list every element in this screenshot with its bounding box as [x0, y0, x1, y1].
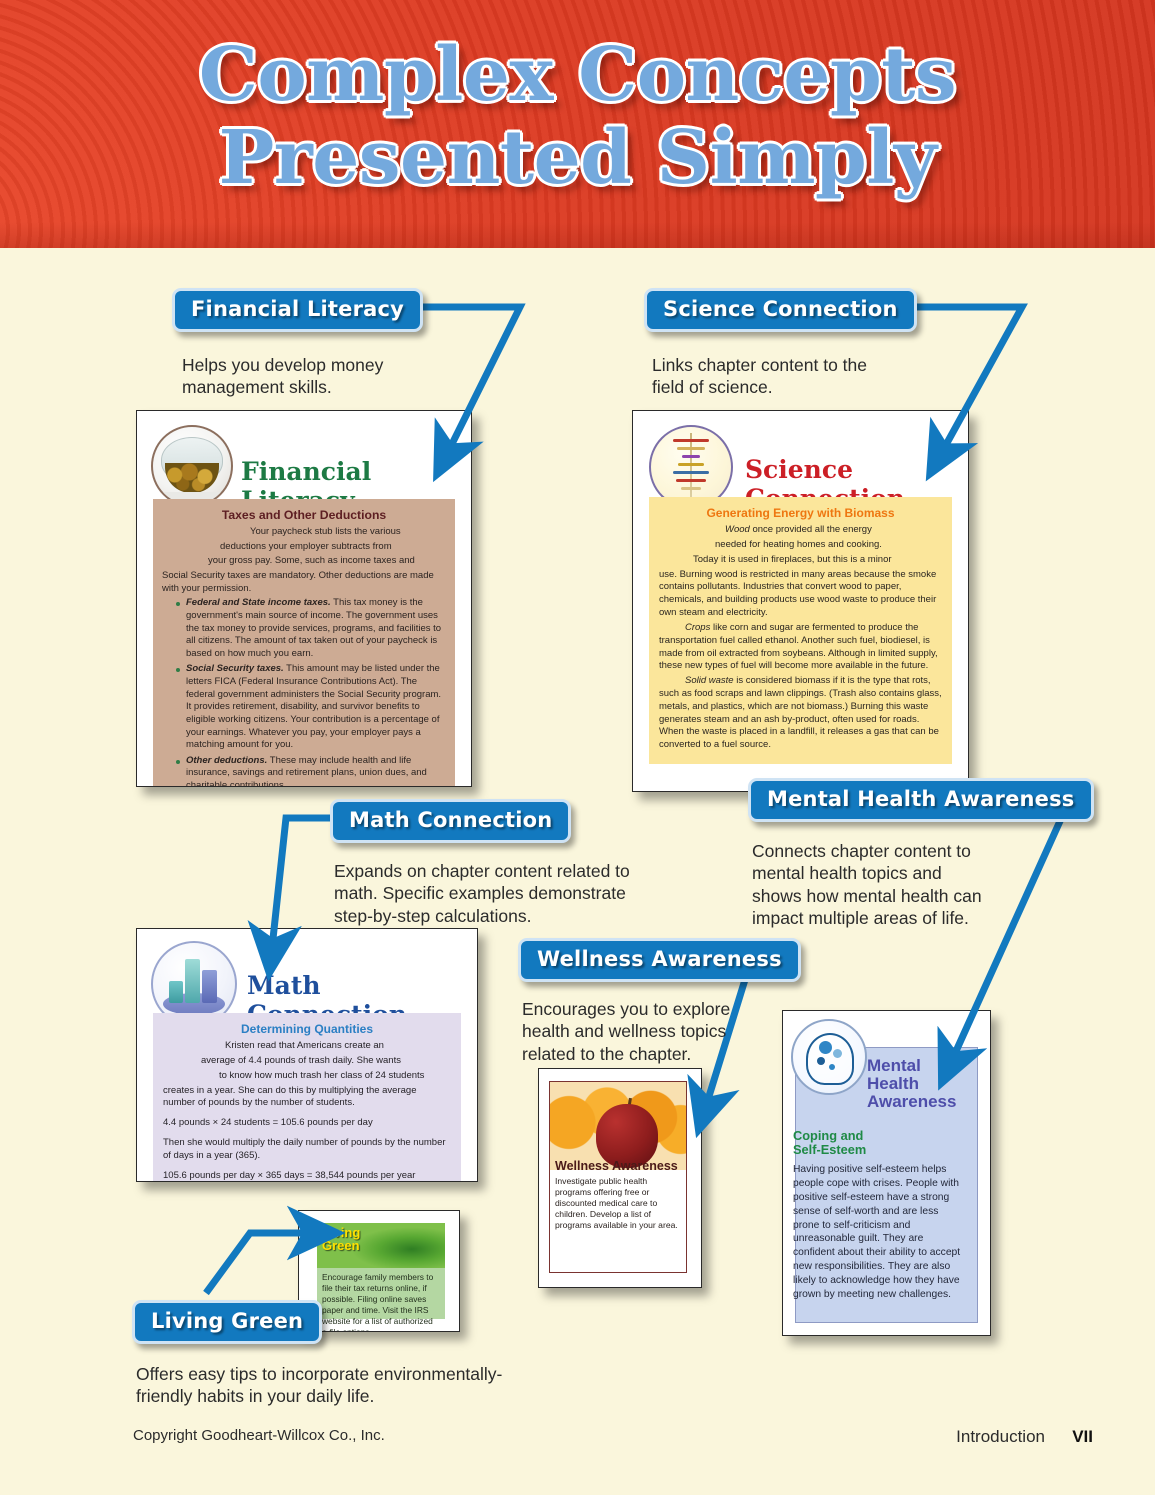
bullet-list: Federal and State income taxes. This tax… [162, 597, 446, 787]
paragraph-line: Social Security taxes are mandatory. Oth… [162, 570, 446, 595]
wellness-text-block: Wellness Awareness Investigate public he… [555, 1160, 681, 1231]
bullet-term: Other deductions. [186, 755, 267, 766]
desc-mental-health-awareness: Connects chapter content to mental healt… [752, 840, 982, 930]
desc-living-green: Offers easy tips to incorporate environm… [136, 1363, 516, 1408]
paragraph-text: once provided all the energy [752, 524, 871, 535]
list-item: Other deductions. These may include heal… [176, 755, 446, 787]
green-plant-photo: LivingGreen [317, 1223, 445, 1268]
callout-science-connection[interactable]: Science Connection [644, 288, 917, 332]
body-text: Investigate public health programs offer… [555, 1176, 678, 1231]
head-with-gears-icon [791, 1019, 867, 1095]
paragraph-line: Then she would multiply the daily number… [163, 1137, 451, 1163]
page-content: Financial Literacy Helps you develop mon… [0, 248, 1155, 1495]
card-heading: Generating Energy with Biomass [659, 505, 942, 521]
paragraph-line: average of 4.4 pounds of trash daily. Sh… [163, 1055, 451, 1068]
desc-financial-literacy: Helps you develop money management skill… [182, 354, 432, 399]
piggy-bank-icon [151, 425, 233, 507]
callout-financial-literacy[interactable]: Financial Literacy [172, 288, 423, 332]
body-text: Having positive self-esteem helps people… [793, 1163, 961, 1302]
card-heading: Taxes and Other Deductions [162, 507, 446, 523]
paragraph-line: use. Burning wood is restricted in many … [659, 569, 942, 620]
page-footer: Copyright Goodheart-Willcox Co., Inc. In… [0, 1427, 1155, 1453]
paragraph-line: needed for heating homes and cooking. [659, 539, 942, 552]
card-heading: Wellness Awareness [555, 1160, 681, 1174]
emphasis-word: Wood [725, 524, 750, 535]
paragraph-line: creates in a year. She can do this by mu… [163, 1085, 451, 1111]
bullet-text: This amount may be listed under the lett… [186, 663, 441, 750]
card-body: Generating Energy with Biomass Wood once… [649, 497, 952, 764]
card-heading: Determining Quantities [163, 1021, 451, 1037]
living-green-label: LivingGreen [322, 1226, 360, 1253]
banner-line-2: Presented Simply [0, 117, 1155, 200]
card-living-green: LivingGreen Encourage family members to … [298, 1210, 460, 1332]
header-banner: Complex Concepts Presented Simply [0, 0, 1155, 248]
paragraph-line: Your paycheck stub lists the various [162, 526, 446, 539]
heading-line-2: Self-Esteem [793, 1142, 866, 1157]
desc-wellness-awareness: Encourages you to explore health and wel… [522, 998, 752, 1065]
card-body: Determining Quantities Kristen read that… [153, 1013, 461, 1182]
callout-wellness-awareness[interactable]: Wellness Awareness [518, 938, 801, 982]
paragraph-line: your gross pay. Some, such as income tax… [162, 555, 446, 568]
footer-page-number: VII [1072, 1427, 1093, 1447]
card-math-connection: Math Connection Determining Quantities K… [136, 928, 478, 1182]
list-item: Federal and State income taxes. This tax… [176, 597, 446, 660]
desc-math-connection: Expands on chapter content related to ma… [334, 860, 634, 927]
page-title: Complex Concepts Presented Simply [0, 34, 1155, 200]
desc-science-connection: Links chapter content to the field of sc… [652, 354, 902, 399]
wellness-inner-frame: Wellness Awareness Investigate public he… [549, 1081, 687, 1273]
callout-math-connection[interactable]: Math Connection [330, 799, 571, 843]
apple-and-oranges-photo [550, 1082, 686, 1170]
paragraph-line: deductions your employer subtracts from [162, 541, 446, 554]
emphasis-word: Crops [685, 622, 710, 633]
paragraph-line: to know how much trash her class of 24 s… [163, 1070, 451, 1083]
callout-mental-health-awareness[interactable]: Mental Health Awareness [748, 778, 1094, 822]
card-science-connection: Science Connection Generating Energy wit… [632, 410, 969, 792]
card-mental-health-awareness: Mental Health Awareness Coping and Self-… [782, 1010, 991, 1336]
card-heading: Coping and Self-Esteem [793, 1129, 958, 1157]
card-title: Mental Health Awareness [867, 1057, 956, 1111]
callout-living-green[interactable]: Living Green [132, 1300, 322, 1344]
emphasis-word: Solid waste [685, 675, 734, 686]
banner-line-1: Complex Concepts [199, 32, 956, 118]
paragraph-text: is considered biomass if it is the type … [659, 675, 942, 750]
footer-section-label: Introduction [956, 1427, 1045, 1447]
copyright-notice: Copyright Goodheart-Willcox Co., Inc. [133, 1427, 385, 1444]
body-text: Encourage family members to file their t… [317, 1268, 445, 1319]
title-line-3: Awareness [867, 1092, 956, 1111]
bullet-term: Social Security taxes. [186, 663, 284, 674]
title-line-1: Mental [867, 1056, 921, 1075]
card-body: Taxes and Other Deductions Your paycheck… [153, 499, 455, 787]
paragraph-line: Kristen read that Americans create an [163, 1040, 451, 1053]
title-line-2: Health [867, 1074, 919, 1093]
list-item: Social Security taxes. This amount may b… [176, 663, 446, 751]
equation-line-2: 105.6 pounds per day × 365 days = 38,544… [163, 1170, 451, 1182]
paragraph-line: Solid waste is considered biomass if it … [659, 675, 942, 752]
equation-line-1: 4.4 pounds × 24 students = 105.6 pounds … [163, 1117, 451, 1130]
card-financial-literacy: Financial Literacy Taxes and Other Deduc… [136, 410, 472, 787]
paragraph-line: Crops like corn and sugar are fermented … [659, 622, 942, 673]
card-wellness-awareness: Wellness Awareness Investigate public he… [538, 1068, 702, 1288]
paragraph-line: Today it is used in fireplaces, but this… [659, 554, 942, 567]
heading-line-1: Coping and [793, 1128, 863, 1143]
bullet-term: Federal and State income taxes. [186, 597, 331, 608]
living-green-inner: LivingGreen Encourage family members to … [317, 1223, 445, 1319]
paragraph-line: Wood once provided all the energy [659, 524, 942, 537]
